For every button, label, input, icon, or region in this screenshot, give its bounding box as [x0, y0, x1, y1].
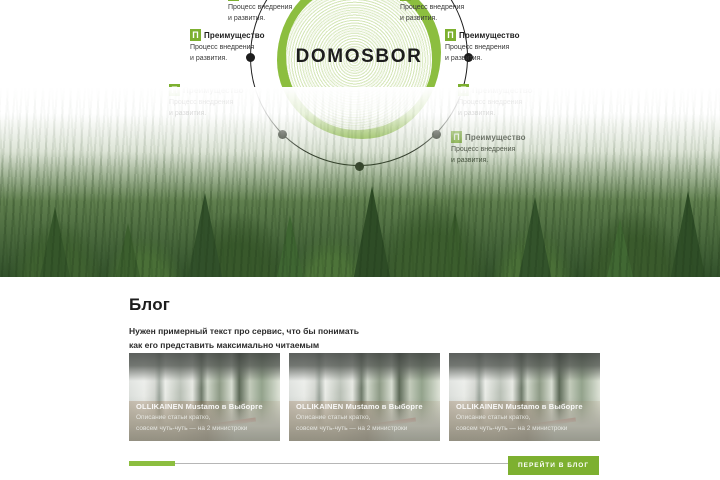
blog-card[interactable]: OLLIKAINEN Mustamo в Выборге Описание ст…	[449, 353, 600, 441]
blog-card-desc-line1: Описание статьи кратко,	[136, 413, 273, 423]
benefit-description: Процесс внедрения и развития.	[190, 43, 300, 64]
blog-subtitle-line2: как его представить максимально читаемым	[129, 338, 359, 352]
blog-subtitle: Нужен примерный текст про сервис, что бы…	[129, 324, 359, 352]
benefit-callout-top-right[interactable]: П Преимущество Процесс внедрения и разви…	[400, 0, 510, 24]
blog-subtitle-line1: Нужен примерный текст про сервис, что бы…	[129, 324, 359, 338]
benefit-desc-line2: и развития.	[400, 14, 510, 25]
blog-card-description: Описание статьи кратко, совсем чуть-чуть…	[456, 413, 593, 434]
benefit-desc-line1: Процесс внедрения	[400, 3, 510, 14]
benefit-desc-line2: и развития.	[228, 14, 338, 25]
blog-card-title: OLLIKAINEN Mustamo в Выборге	[136, 402, 273, 411]
benefit-callout-right-upper[interactable]: П Преимущество Процесс внедрения и разви…	[445, 29, 555, 64]
benefit-desc-line1: Процесс внедрения	[445, 43, 555, 54]
blog-card-description: Описание статьи кратко, совсем чуть-чуть…	[136, 413, 273, 434]
blog-card-desc-line1: Описание статьи кратко,	[296, 413, 433, 423]
blog-card-overlay: OLLIKAINEN Mustamo в Выборге Описание ст…	[449, 396, 600, 441]
benefit-title-row: П Преимущество	[400, 0, 510, 1]
benefit-badge-icon: П	[228, 0, 239, 1]
blog-card-overlay: OLLIKAINEN Mustamo в Выборге Описание ст…	[129, 396, 280, 441]
benefit-callout-top-left[interactable]: П Преимущество Процесс внедрения и разви…	[228, 0, 338, 24]
benefit-title: Преимущество	[459, 31, 520, 40]
benefit-desc-line2: и развития.	[190, 54, 300, 65]
benefit-title-row: П Преимущество	[228, 0, 338, 1]
blog-header: Блог Нужен примерный текст про сервис, ч…	[129, 295, 359, 352]
blog-card-list: OLLIKAINEN Mustamo в Выборге Описание ст…	[129, 353, 600, 441]
hero-section: DOMOSBOR П Преимущество Процесс внедрени…	[0, 0, 720, 277]
blog-card[interactable]: OLLIKAINEN Mustamo в Выборге Описание ст…	[129, 353, 280, 441]
benefit-badge-icon: П	[190, 29, 201, 41]
blog-section: Блог Нужен примерный текст про сервис, ч…	[0, 277, 720, 480]
benefit-title-row: П Преимущество	[445, 29, 555, 41]
benefit-description: Процесс внедрения и развития.	[228, 3, 338, 24]
page-title: Блог	[129, 295, 359, 315]
blog-card-desc-line2: совсем чуть-чуть — на 2 министроки	[456, 424, 593, 434]
benefit-title-row: П Преимущество	[190, 29, 300, 41]
benefit-description: Процесс внедрения и развития.	[445, 43, 555, 64]
benefit-desc-line2: и развития.	[445, 54, 555, 65]
blog-card-desc-line2: совсем чуть-чуть — на 2 министроки	[296, 424, 433, 434]
blog-card-desc-line1: Описание статьи кратко,	[456, 413, 593, 423]
benefit-description: Процесс внедрения и развития.	[400, 3, 510, 24]
brand-name: DOMOSBOR	[277, 46, 441, 68]
benefit-callout-left-upper[interactable]: П Преимущество Процесс внедрения и разви…	[190, 29, 300, 64]
go-to-blog-button[interactable]: ПЕРЕЙТИ В БЛОГ	[508, 456, 599, 475]
blog-card-overlay: OLLIKAINEN Mustamo в Выборге Описание ст…	[289, 396, 440, 441]
benefit-badge-icon: П	[400, 0, 411, 1]
landing-page: DOMOSBOR П Преимущество Процесс внедрени…	[0, 0, 720, 480]
blog-card-title: OLLIKAINEN Mustamo в Выборге	[456, 402, 593, 411]
blog-card-desc-line2: совсем чуть-чуть — на 2 министроки	[136, 424, 273, 434]
benefit-desc-line1: Процесс внедрения	[228, 3, 338, 14]
benefit-badge-icon: П	[445, 29, 456, 41]
blog-card[interactable]: OLLIKAINEN Mustamo в Выборге Описание ст…	[289, 353, 440, 441]
blog-card-title: OLLIKAINEN Mustamo в Выборге	[296, 402, 433, 411]
slider-thumb[interactable]	[129, 461, 175, 466]
benefit-title: Преимущество	[204, 31, 265, 40]
blog-card-description: Описание статьи кратко, совсем чуть-чуть…	[296, 413, 433, 434]
benefit-desc-line1: Процесс внедрения	[190, 43, 300, 54]
forest-photo	[0, 87, 720, 277]
